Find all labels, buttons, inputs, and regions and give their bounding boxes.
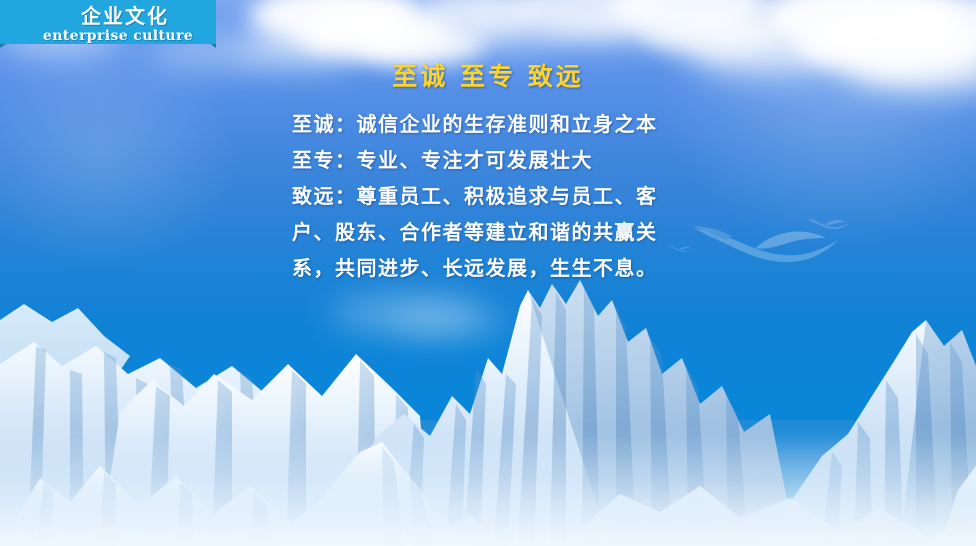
culture-body-line: 致远：尊重员工、积极追求与员工、客 — [292, 178, 684, 214]
ribbon-title-cn: 企业文化 — [47, 6, 169, 26]
culture-body-line: 至专：专业、专注才可发展壮大 — [292, 142, 684, 178]
culture-content: 至诚 至专 致远 至诚：诚信企业的生存准则和立身之本至专：专业、专注才可发展壮大… — [0, 62, 976, 286]
culture-body-line: 系，共同进步、长远发展，生生不息。 — [292, 250, 684, 286]
culture-body-line: 户、股东、合作者等建立和谐的共赢关 — [292, 214, 684, 250]
culture-headline: 至诚 至专 致远 — [0, 62, 976, 92]
snow-mountain-range — [0, 246, 976, 546]
ribbon-badge: 企业文化 enterprise culture — [0, 0, 220, 52]
enterprise-culture-banner: 企业文化 enterprise culture 至诚 至专 致远 至诚：诚信企业… — [0, 0, 976, 546]
culture-body-line: 至诚：诚信企业的生存准则和立身之本 — [292, 106, 684, 142]
ribbon-title-en: enterprise culture — [23, 29, 193, 43]
culture-body-lines: 至诚：诚信企业的生存准则和立身之本至专：专业、专注才可发展壮大致远：尊重员工、积… — [292, 106, 684, 286]
ribbon-text-block: 企业文化 enterprise culture — [0, 0, 216, 48]
